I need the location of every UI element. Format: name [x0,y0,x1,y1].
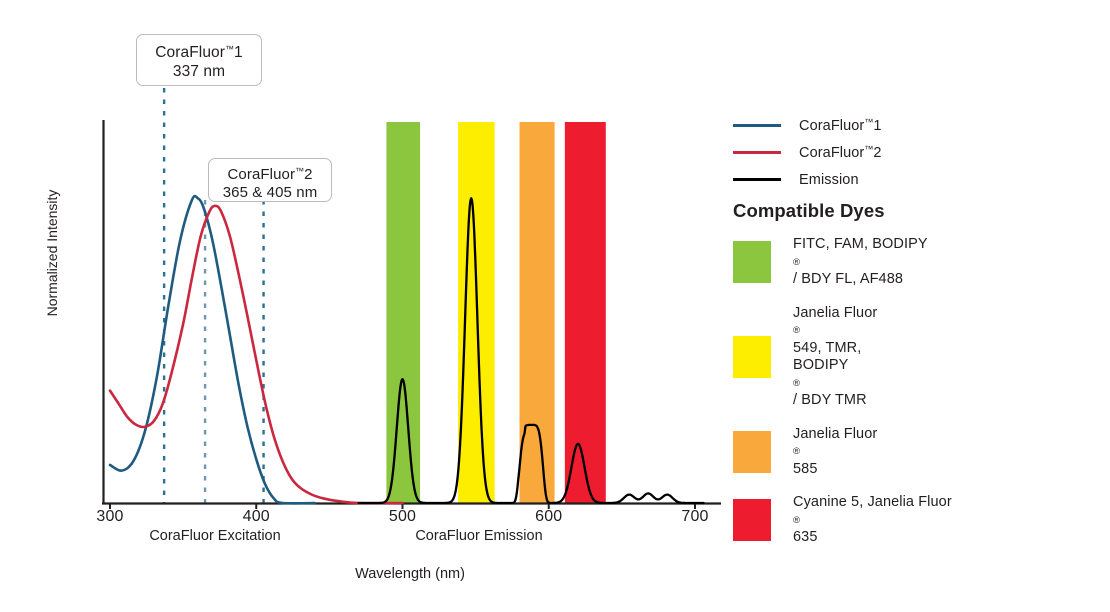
x-tick-label-300: 300 [80,508,140,526]
legend-line-label: CoraFluor™2 [799,144,882,161]
callout-2-line-2: 365 & 405 nm [209,184,331,202]
dye-color-swatch [733,336,771,378]
x-axis-title: Wavelength (nm) [300,566,520,582]
legend-line-swatch [733,151,781,154]
dye-color-swatch [733,499,771,541]
legend-row-0[interactable]: CoraFluor™1 [733,112,1073,139]
callout-1-line-2: 337 nm [137,62,261,81]
y-axis-title: Normalized Intensity [44,173,60,333]
x-tick-label-500: 500 [373,508,433,526]
dye-color-swatch [733,431,771,473]
emission-band-green [386,122,420,503]
dye-color-swatch [733,241,771,283]
dye-row-0[interactable]: FITC, FAM, BODIPY®/ BDY FL, AF488 [733,236,1093,289]
x-tick-label-400: 400 [226,508,286,526]
excitation-guide-lines [164,88,263,503]
dye-label-line-2: BODIPY®/ BDY TMR [793,357,877,410]
legend-line-swatch [733,178,781,181]
sub-axis-label-excitation: CoraFluor Excitation [140,528,290,544]
dye-label: Janelia Fluor® 549, TMR,BODIPY®/ BDY TMR [793,305,877,410]
dye-label-line-1: FITC, FAM, BODIPY®/ BDY FL, AF488 [793,236,928,289]
dye-row-2[interactable]: Janelia Fluor® 585 [733,426,1093,479]
sub-axis-label-emission: CoraFluor Emission [404,528,554,544]
dye-row-1[interactable]: Janelia Fluor® 549, TMR,BODIPY®/ BDY TMR [733,305,1093,410]
legend-row-2[interactable]: Emission [733,166,1073,193]
dye-label-line-1: Janelia Fluor® 585 [793,426,877,479]
x-tick-label-600: 600 [519,508,579,526]
emission-band-red [565,122,606,503]
dye-label-line-1: Cyanine 5, Janelia Fluor® 635 [793,494,952,547]
compatible-dyes-heading: Compatible Dyes [733,200,885,222]
callout-2-line-1: CoraFluor™2 [209,162,331,184]
emission-band-orange [520,122,555,503]
callout-coraFluor-2: CoraFluor™2 365 & 405 nm [208,158,332,202]
spectra-figure: CoraFluor™1 337 nm CoraFluor™2 365 & 405… [0,0,1110,612]
legend-line-label: Emission [799,171,859,188]
series-legend: CoraFluor™1CoraFluor™2Emission [733,112,1073,193]
dye-label: FITC, FAM, BODIPY®/ BDY FL, AF488 [793,236,928,289]
emission-filter-bands [386,122,605,503]
legend-line-swatch [733,124,781,127]
legend-line-label: CoraFluor™1 [799,117,882,134]
legend-row-1[interactable]: CoraFluor™2 [733,139,1073,166]
callout-1-line-1: CoraFluor™1 [137,40,261,62]
callout-coraFluor-1: CoraFluor™1 337 nm [136,34,262,86]
dye-label: Janelia Fluor® 585 [793,426,877,479]
dye-row-3[interactable]: Cyanine 5, Janelia Fluor® 635 [733,494,1093,547]
dye-label: Cyanine 5, Janelia Fluor® 635 [793,494,952,547]
curve-excitation [110,196,315,503]
x-tick-label-700: 700 [665,508,725,526]
compatible-dyes-list: FITC, FAM, BODIPY®/ BDY FL, AF488Janelia… [733,236,1093,563]
dye-label-line-1: Janelia Fluor® 549, TMR, [793,305,877,358]
